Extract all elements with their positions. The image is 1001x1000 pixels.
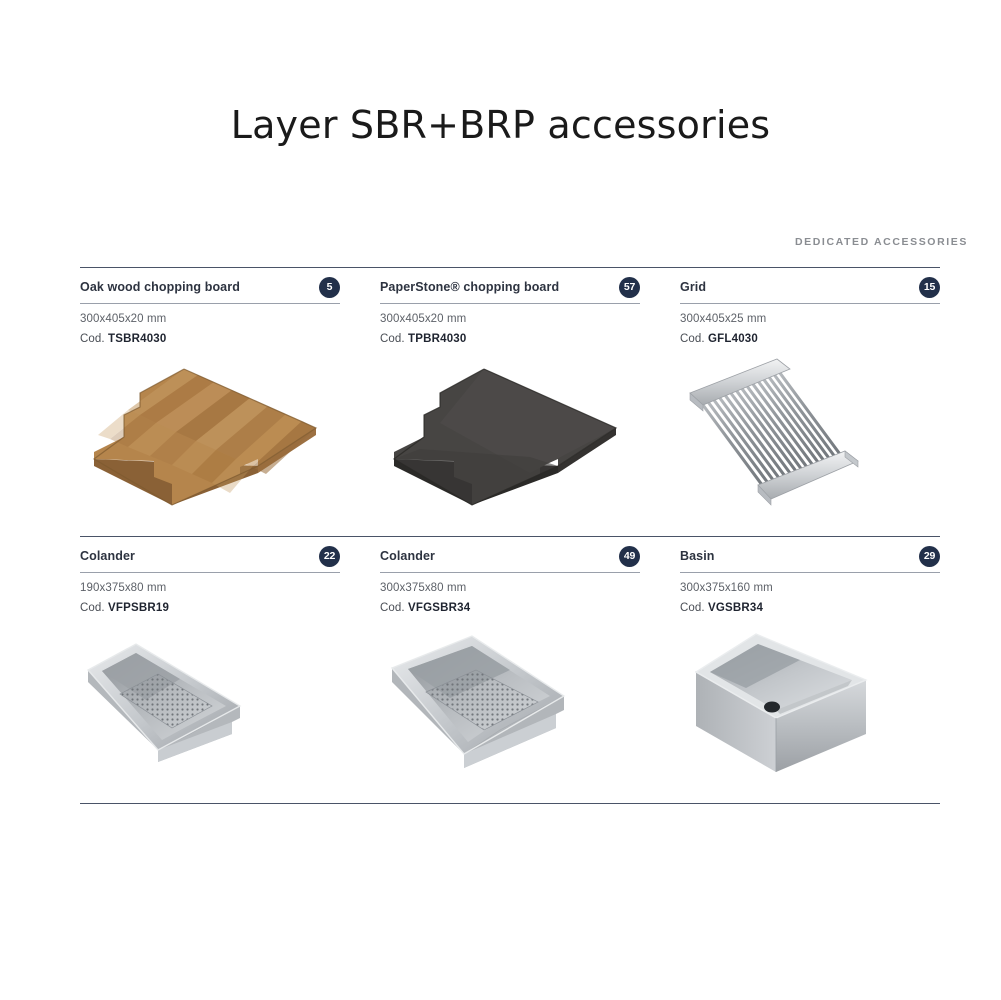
product-card[interactable]: Colander 22 190x375x80 mm Cod. VFPSBR19 (80, 537, 340, 787)
product-badge: 15 (919, 277, 940, 298)
product-row: Oak wood chopping board 5 300x405x20 mm … (80, 268, 940, 518)
product-code: Cod. TPBR4030 (380, 333, 640, 345)
product-card[interactable]: Oak wood chopping board 5 300x405x20 mm … (80, 268, 340, 518)
product-code: Cod. VFPSBR19 (80, 602, 340, 614)
code-prefix-label: Cod. (80, 333, 105, 345)
code-value: VFPSBR19 (108, 602, 169, 614)
card-divider (80, 303, 340, 304)
product-dimensions: 300x405x20 mm (80, 313, 340, 325)
product-dimensions: 300x375x80 mm (380, 582, 640, 594)
code-prefix-label: Cod. (680, 602, 705, 614)
product-dimensions: 300x405x20 mm (380, 313, 640, 325)
card-header: Basin 29 (680, 537, 940, 571)
product-name: Basin (680, 549, 715, 563)
page-title: Layer SBR+BRP accessories (0, 103, 1001, 147)
product-dimensions: 300x375x160 mm (680, 582, 940, 594)
product-code: Cod. VGSBR34 (680, 602, 940, 614)
product-row: Colander 22 190x375x80 mm Cod. VFPSBR19 (80, 537, 940, 787)
product-name: Colander (380, 549, 435, 563)
product-card[interactable]: Colander 49 300x375x80 mm Cod. VFGSBR34 (380, 537, 640, 787)
product-image-oak-wood-chopping-board (80, 353, 340, 518)
product-dimensions: 190x375x80 mm (80, 582, 340, 594)
card-header: Oak wood chopping board 5 (80, 268, 340, 302)
product-name: Oak wood chopping board (80, 280, 240, 294)
product-card[interactable]: Grid 15 300x405x25 mm Cod. GFL4030 (680, 268, 940, 518)
code-value: VGSBR34 (708, 602, 763, 614)
card-header: PaperStone® chopping board 57 (380, 268, 640, 302)
product-name: Grid (680, 280, 706, 294)
code-value: TSBR4030 (108, 333, 167, 345)
accessories-catalog: Oak wood chopping board 5 300x405x20 mm … (80, 267, 940, 804)
product-image-deep-basin (680, 622, 940, 787)
code-prefix-label: Cod. (680, 333, 705, 345)
product-code: Cod. TSBR4030 (80, 333, 340, 345)
product-image-paperstone-chopping-board (380, 353, 640, 518)
product-badge: 49 (619, 546, 640, 567)
product-name: Colander (80, 549, 135, 563)
product-badge: 29 (919, 546, 940, 567)
product-code: Cod. GFL4030 (680, 333, 940, 345)
card-divider (80, 572, 340, 573)
code-value: GFL4030 (708, 333, 758, 345)
product-image-roll-up-grid (680, 353, 940, 518)
card-divider (680, 572, 940, 573)
product-badge: 22 (319, 546, 340, 567)
product-code: Cod. VFGSBR34 (380, 602, 640, 614)
section-kicker: DEDICATED ACCESSORIES (795, 236, 968, 248)
product-card[interactable]: Basin 29 300x375x160 mm Cod. VGSBR34 (680, 537, 940, 787)
code-prefix-label: Cod. (380, 602, 405, 614)
product-card[interactable]: PaperStone® chopping board 57 300x405x20… (380, 268, 640, 518)
card-divider (380, 303, 640, 304)
code-value: VFGSBR34 (408, 602, 470, 614)
catalog-bottom-rule (80, 803, 940, 804)
product-badge: 5 (319, 277, 340, 298)
code-prefix-label: Cod. (80, 602, 105, 614)
product-name: PaperStone® chopping board (380, 280, 559, 294)
product-image-narrow-colander (80, 622, 340, 787)
product-badge: 57 (619, 277, 640, 298)
card-header: Colander 49 (380, 537, 640, 571)
card-divider (680, 303, 940, 304)
product-dimensions: 300x405x25 mm (680, 313, 940, 325)
code-value: TPBR4030 (408, 333, 467, 345)
product-image-wide-colander (380, 622, 640, 787)
card-header: Colander 22 (80, 537, 340, 571)
card-divider (380, 572, 640, 573)
card-header: Grid 15 (680, 268, 940, 302)
code-prefix-label: Cod. (380, 333, 405, 345)
